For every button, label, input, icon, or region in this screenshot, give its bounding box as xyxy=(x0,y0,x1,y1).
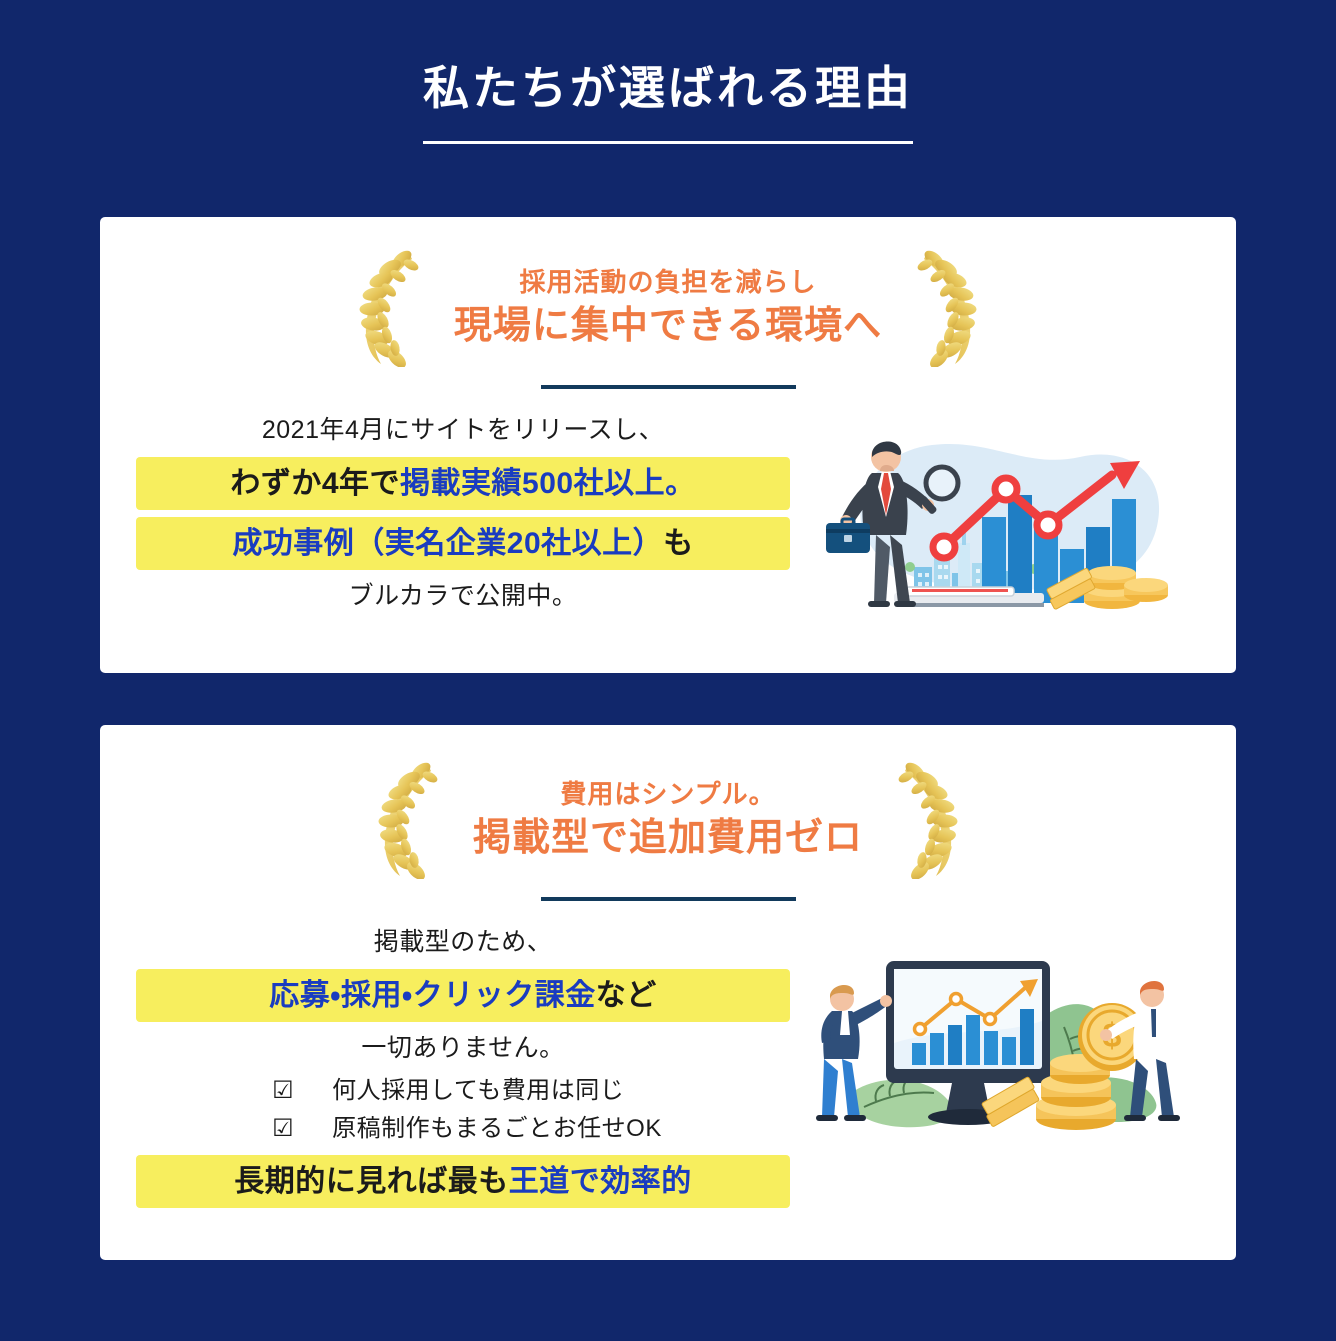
card-2-heading-main: 掲載型で追加費用ゼロ xyxy=(473,814,863,863)
business-growth-illustration xyxy=(794,417,1194,637)
card-2-highlight-1: 応募・採用・クリック課金など xyxy=(136,969,790,1022)
card-1-heading-main: 現場に集中できる環境へ xyxy=(454,302,882,351)
card-1-highlight-2-bold: 成功事例（実名企業20社以上） xyxy=(232,527,663,560)
card-1-tail-text: ブルカラで公開中。 xyxy=(136,577,790,616)
laurel-wreath-right-icon xyxy=(889,761,963,879)
card-2-highlight-2-plain-before: 長期的に見れば最も xyxy=(234,1165,509,1198)
page-title: 私たちが選ばれる理由 xyxy=(0,62,1336,115)
reason-card-1: 採用活動の負担を減らし 現場に集中できる環境へ xyxy=(100,217,1236,673)
page-title-underline xyxy=(423,141,913,144)
card-2-highlight-1-bold: 応募・採用・クリック課金 xyxy=(269,979,595,1012)
card-1-highlight-2: 成功事例（実名企業20社以上）も xyxy=(136,517,790,570)
check-item-label: 原稿制作もまるごとお任せOK xyxy=(332,1110,662,1148)
card-1-heading-sub: 採用活動の負担を減らし xyxy=(454,265,882,300)
reason-card-2: 費用はシンプル。 掲載型で追加費用ゼロ xyxy=(100,725,1236,1260)
list-item: ☑ 原稿制作もまるごとお任せOK xyxy=(264,1110,662,1148)
card-1-heading-block: 採用活動の負担を減らし 現場に集中できる環境へ xyxy=(100,217,1236,367)
laurel-wreath-left-icon xyxy=(373,761,447,879)
card-2-heading-text: 費用はシンプル。 掲載型で追加費用ゼロ xyxy=(473,777,863,863)
card-2-body: 掲載型のため、 応募・採用・クリック課金など 一切ありません。 ☑ 何人採用して… xyxy=(100,901,1236,1215)
laurel-wreath-left-icon xyxy=(354,249,428,367)
card-1-highlight-1-plain-before: わずか4年で xyxy=(230,467,400,500)
card-1-highlight-1-bold: 掲載実績500社以上。 xyxy=(400,467,696,500)
card-2-lead-text: 掲載型のため、 xyxy=(136,923,790,962)
card-2-check-list: ☑ 何人採用しても費用は同じ ☑ 原稿制作もまるごとお任せOK xyxy=(264,1072,662,1149)
laurel-wreath-right-icon xyxy=(908,249,982,367)
card-2-heading-sub: 費用はシンプル。 xyxy=(473,777,863,812)
card-1-text-column: 2021年4月にサイトをリリースし、 わずか4年で掲載実績500社以上。 成功事… xyxy=(100,411,790,616)
card-2-highlight-2-bold: 王道で効率的 xyxy=(509,1165,692,1198)
card-2-highlight-2: 長期的に見れば最も王道で効率的 xyxy=(136,1155,790,1208)
checkbox-checked-icon: ☑ xyxy=(272,1117,294,1141)
card-1-highlight-1: わずか4年で掲載実績500社以上。 xyxy=(136,457,790,510)
card-2-text-column: 掲載型のため、 応募・採用・クリック課金など 一切ありません。 ☑ 何人採用して… xyxy=(100,923,790,1215)
card-2-highlight-1-plain-after: など xyxy=(596,979,657,1012)
check-item-label: 何人採用しても費用は同じ xyxy=(332,1072,624,1110)
card-2-heading-block: 費用はシンプル。 掲載型で追加費用ゼロ xyxy=(100,725,1236,879)
card-1-body: 2021年4月にサイトをリリースし、 わずか4年で掲載実績500社以上。 成功事… xyxy=(100,389,1236,637)
page-header: 私たちが選ばれる理由 xyxy=(0,0,1336,144)
card-2-mid-text: 一切ありません。 xyxy=(136,1029,790,1068)
card-1-lead-text: 2021年4月にサイトをリリースし、 xyxy=(136,411,790,450)
card-1-heading-text: 採用活動の負担を減らし 現場に集中できる環境へ xyxy=(454,265,882,351)
monitor-analytics-illustration: $ xyxy=(794,931,1194,1161)
card-1-highlight-2-plain-after: も xyxy=(663,527,694,560)
checkbox-checked-icon: ☑ xyxy=(272,1079,294,1103)
list-item: ☑ 何人採用しても費用は同じ xyxy=(264,1072,662,1110)
